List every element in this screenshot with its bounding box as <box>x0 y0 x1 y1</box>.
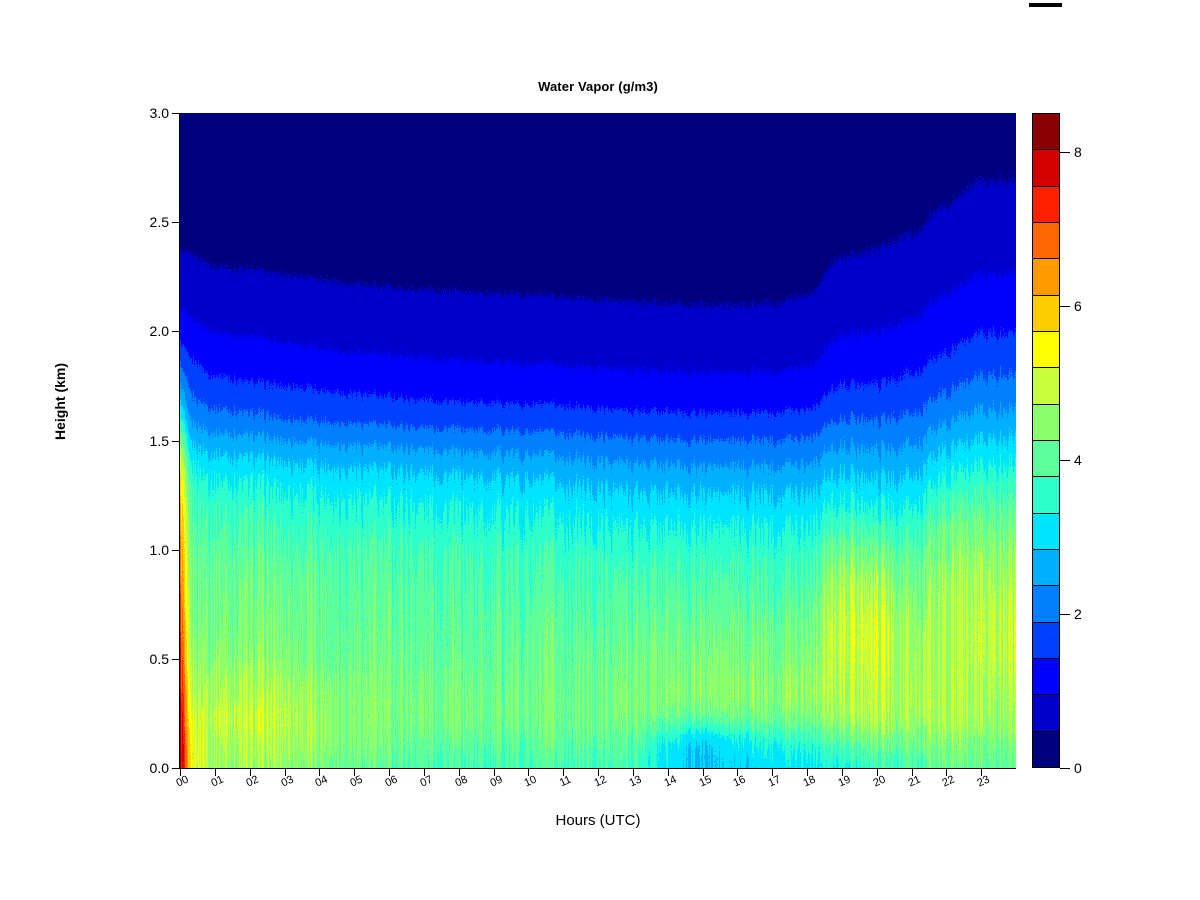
y-axis-title: Height (km) <box>52 363 68 440</box>
y-tick-1.5 <box>172 441 179 442</box>
colorbar-band-0 <box>1033 732 1059 767</box>
x-tick-label-22: 22 <box>941 774 957 790</box>
colorbar-band-14 <box>1033 223 1059 259</box>
x-tick-label-19: 19 <box>836 774 852 790</box>
x-tick-label-07: 07 <box>418 774 434 790</box>
colorbar-band-13 <box>1033 259 1059 295</box>
heatmap-plot-area <box>180 113 1016 768</box>
colorbar-band-9 <box>1033 405 1059 441</box>
colorbar-band-4 <box>1033 586 1059 622</box>
chart-title: Water Vapor (g/m3) <box>180 79 1016 94</box>
x-tick-label-17: 17 <box>767 774 783 790</box>
colorbar-band-8 <box>1033 441 1059 477</box>
y-tick-label-1.0: 1.0 <box>150 542 169 558</box>
colorbar-band-12 <box>1033 296 1059 332</box>
colorbar-band-15 <box>1033 187 1059 223</box>
colorbar-tick-label-4: 4 <box>1074 452 1082 468</box>
y-tick-0.5 <box>172 659 179 660</box>
x-tick-label-21: 21 <box>906 774 922 790</box>
colorbar-tick-label-6: 6 <box>1074 298 1082 314</box>
colorbar-band-5 <box>1033 550 1059 586</box>
colorbar-tick-6 <box>1060 306 1070 307</box>
x-tick-label-05: 05 <box>349 774 365 790</box>
colorbar-band-6 <box>1033 514 1059 550</box>
y-tick-1.0 <box>172 550 179 551</box>
colorbar-tick-label-0: 0 <box>1074 760 1082 776</box>
x-tick-label-14: 14 <box>662 774 678 790</box>
colorbar-band-1 <box>1033 695 1059 731</box>
figure-canvas: Water Vapor (g/m3) 000102030405060708091… <box>0 0 1200 900</box>
x-tick-label-23: 23 <box>976 774 992 790</box>
colorbar-tick-label-2: 2 <box>1074 606 1082 622</box>
colorbar-band-3 <box>1033 623 1059 659</box>
colorbar-tick-label-8: 8 <box>1074 144 1082 160</box>
x-tick-label-12: 12 <box>592 774 608 790</box>
x-axis-title: Hours (UTC) <box>180 812 1016 829</box>
colorbar-band-2 <box>1033 659 1059 695</box>
colorbar-band-17 <box>1033 114 1059 150</box>
colorbar <box>1032 113 1060 768</box>
y-tick-2.0 <box>172 331 179 332</box>
x-tick-label-08: 08 <box>453 774 469 790</box>
image-artifact-line <box>1029 3 1062 7</box>
x-tick-label-00: 00 <box>174 774 190 790</box>
x-tick-label-20: 20 <box>871 774 887 790</box>
x-tick-label-04: 04 <box>314 774 330 790</box>
heatmap-raster <box>180 113 1016 768</box>
x-tick-label-18: 18 <box>801 774 817 790</box>
x-tick-label-15: 15 <box>697 774 713 790</box>
x-tick-label-10: 10 <box>523 774 539 790</box>
x-tick-label-06: 06 <box>383 774 399 790</box>
y-tick-label-2.0: 2.0 <box>150 323 169 339</box>
y-tick-label-1.5: 1.5 <box>150 433 169 449</box>
y-tick-0.0 <box>172 768 179 769</box>
x-tick-label-03: 03 <box>279 774 295 790</box>
colorbar-band-16 <box>1033 150 1059 186</box>
y-tick-label-0.0: 0.0 <box>150 760 169 776</box>
colorbar-tick-0 <box>1060 768 1070 769</box>
y-tick-3.0 <box>172 113 179 114</box>
colorbar-tick-2 <box>1060 614 1070 615</box>
x-tick-label-16: 16 <box>732 774 748 790</box>
x-tick-label-13: 13 <box>627 774 643 790</box>
colorbar-band-7 <box>1033 477 1059 513</box>
x-tick-label-11: 11 <box>558 774 573 790</box>
y-tick-label-0.5: 0.5 <box>150 651 169 667</box>
y-tick-2.5 <box>172 222 179 223</box>
colorbar-band-10 <box>1033 368 1059 404</box>
colorbar-tick-8 <box>1060 152 1070 153</box>
x-tick-label-02: 02 <box>244 774 260 790</box>
colorbar-band-11 <box>1033 332 1059 368</box>
y-axis-line <box>179 113 180 769</box>
y-tick-label-3.0: 3.0 <box>150 105 169 121</box>
colorbar-tick-4 <box>1060 460 1070 461</box>
x-tick-label-09: 09 <box>488 774 504 790</box>
x-tick-label-01: 01 <box>209 774 225 790</box>
y-tick-label-2.5: 2.5 <box>150 214 169 230</box>
